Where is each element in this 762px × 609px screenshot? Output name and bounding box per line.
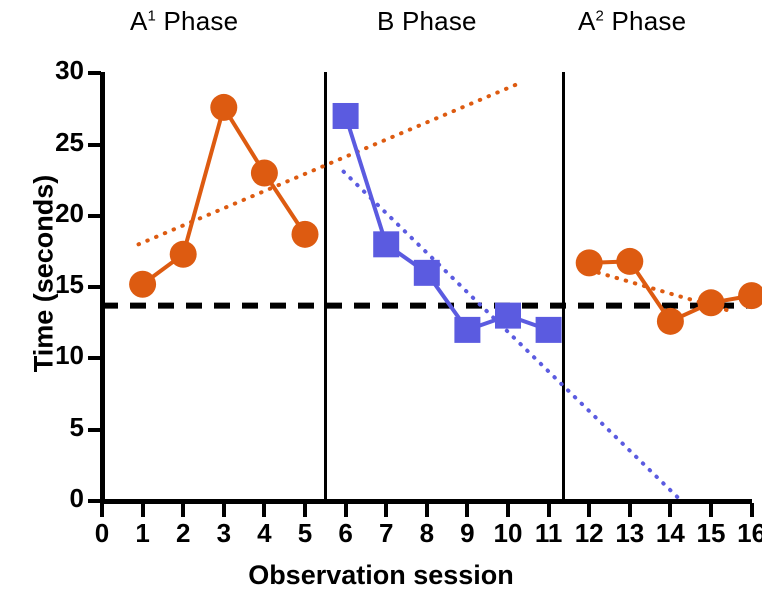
marker-8	[414, 260, 440, 286]
marker-1	[129, 271, 156, 298]
marker-15	[698, 289, 725, 316]
marker-4	[251, 160, 278, 187]
marker-6	[333, 103, 359, 129]
series-line-1	[143, 107, 305, 284]
plot-area	[0, 0, 762, 609]
marker-9	[454, 317, 480, 343]
trend-line-2	[344, 172, 679, 499]
series-line-2	[346, 116, 549, 330]
marker-3	[210, 94, 237, 121]
trend-lines-group	[139, 85, 732, 499]
marker-12	[576, 249, 603, 276]
marker-5	[292, 221, 319, 248]
marker-10	[495, 303, 521, 329]
marker-7	[373, 231, 399, 257]
trend-line-1	[139, 85, 517, 245]
marker-2	[170, 241, 197, 268]
marker-14	[657, 308, 684, 335]
marker-11	[536, 317, 562, 343]
marker-16	[738, 282, 762, 309]
marker-13	[616, 248, 643, 275]
chart-canvas: A1 Phase B Phase A2 Phase Time (seconds)…	[0, 0, 762, 609]
